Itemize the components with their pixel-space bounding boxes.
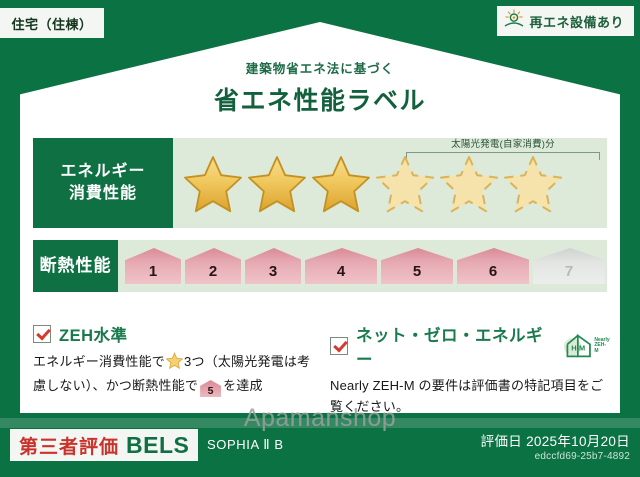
building-type-tag: 住宅（住棟）	[0, 8, 104, 38]
star-solar-icon	[373, 152, 437, 216]
insulation-grade-badge: 2	[185, 248, 243, 284]
bels-jp-label: 第三者評価	[19, 432, 119, 459]
energy-performance-label: 住宅（住棟） 再エネ設備あり 建築物省エネ法に基づく 省エネ性能ラベル	[0, 0, 640, 477]
insulation-grade-inline-badge: 5	[200, 380, 221, 397]
insulation-label-text: 断熱性能	[40, 255, 112, 278]
building-name: SOPHIA Ⅱ B	[207, 437, 284, 453]
energy-label-line2: 消費性能	[69, 183, 137, 205]
energy-consumption-row: エネルギー 消費性能 太陽光発電(自家消費)分	[33, 138, 607, 228]
insulation-grade-badge: 5	[381, 248, 455, 284]
energy-star-field: 太陽光発電(自家消費)分	[173, 138, 607, 228]
net-zero-energy-header: ネット・ゼロ・エネルギー H-M Nearly ZEH-M	[330, 322, 610, 370]
insulation-grade-badge: 7	[533, 248, 607, 284]
zeh-text-part1: エネルギー消費性能で	[33, 354, 165, 369]
renewable-energy-label: 再エネ設備あり	[529, 12, 624, 31]
net-zero-energy-block: ネット・ゼロ・エネルギー H-M Nearly ZEH-M Nearly ZEH…	[330, 322, 610, 417]
zeh-m-house-icon: H-M Nearly ZEH-M	[563, 333, 610, 359]
energy-star-rating	[181, 152, 565, 216]
label-title: 省エネ性能ラベル	[0, 81, 640, 117]
sun-icon	[503, 9, 525, 34]
insulation-grade-badge: 4	[305, 248, 379, 284]
zeh-standard-title: ZEH水準	[59, 322, 128, 346]
zeh-standard-header: ZEH水準	[33, 322, 323, 346]
net-zero-energy-title: ネット・ゼロ・エネルギー	[356, 322, 553, 370]
building-type-label: 住宅（住棟）	[11, 14, 92, 33]
solar-bracket-caption: 太陽光発電(自家消費)分	[406, 140, 600, 150]
insulation-grade-badge: 3	[245, 248, 303, 284]
star-icon	[166, 352, 183, 375]
bels-en-label: BELS	[126, 432, 189, 459]
evaluation-id: edccfd69-25b7-4892	[535, 451, 630, 462]
label-heading: 建築物省エネ法に基づく 省エネ性能ラベル	[0, 58, 640, 117]
star-filled-icon	[309, 152, 373, 216]
star-filled-icon	[181, 152, 245, 216]
insulation-grade-badge: 6	[457, 248, 531, 284]
energy-label-line1: エネルギー	[60, 161, 145, 183]
zeh-text-part3: を達成	[223, 378, 263, 393]
zeh-standard-block: ZEH水準 エネルギー消費性能で3つ（太陽光発電は考慮しない）、かつ断熱性能で5…	[33, 322, 323, 397]
star-solar-icon	[501, 152, 565, 216]
star-solar-icon	[437, 152, 501, 216]
evaluation-date: 評価日 2025年10月20日	[481, 430, 630, 450]
energy-consumption-label: エネルギー 消費性能	[33, 138, 173, 228]
insulation-grade-scale: 1234567	[118, 240, 607, 292]
label-subtitle: 建築物省エネ法に基づく	[0, 58, 640, 77]
svg-text:H-M: H-M	[571, 343, 585, 352]
net-zero-energy-checkbox[interactable]	[330, 337, 348, 355]
insulation-grade-badge: 1	[125, 248, 183, 284]
zeh-m-logo-sub2: ZEH-M	[594, 343, 610, 354]
label-footer: 第三者評価 BELS SOPHIA Ⅱ B 評価日 2025年10月20日 ed…	[0, 425, 640, 477]
zeh-standard-description: エネルギー消費性能で3つ（太陽光発電は考慮しない）、かつ断熱性能で5を達成	[33, 351, 323, 397]
zeh-standard-checkbox[interactable]	[33, 325, 51, 343]
renewable-energy-badge: 再エネ設備あり	[497, 6, 634, 36]
star-filled-icon	[245, 152, 309, 216]
bels-certification-badge: 第三者評価 BELS	[10, 429, 198, 461]
insulation-performance-label: 断熱性能	[33, 240, 118, 292]
insulation-performance-row: 断熱性能 1234567	[33, 240, 607, 292]
net-zero-energy-description: Nearly ZEH-M の要件は評価書の特記項目をご覧ください。	[330, 375, 610, 417]
